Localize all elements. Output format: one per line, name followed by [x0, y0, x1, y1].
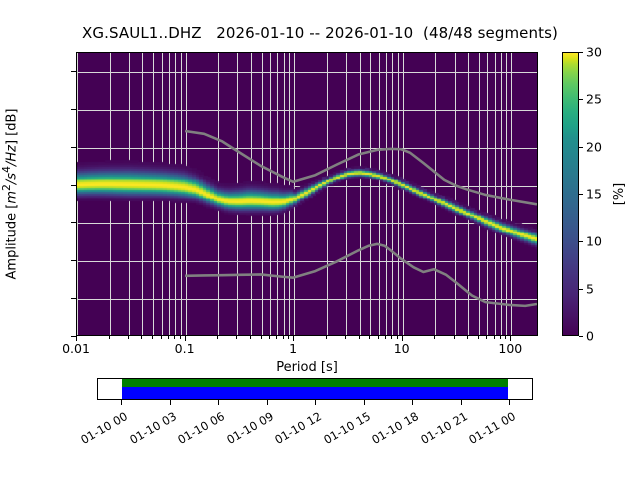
y-tick-mark	[71, 298, 76, 299]
high-noise-model-line	[185, 131, 537, 204]
x-tick-mark-minor	[217, 336, 218, 339]
x-tick-mark-minor	[261, 336, 262, 339]
x-tick-mark-minor	[168, 336, 169, 339]
timeline-tick-mark	[315, 400, 316, 405]
data-coverage-band	[122, 379, 508, 387]
colorbar-tick-label: 20	[586, 139, 602, 154]
x-tick-mark-minor	[152, 336, 153, 339]
colorbar-tick-label: 15	[586, 187, 602, 202]
y-tick-mark	[71, 147, 76, 148]
x-tick-mark-minor	[180, 336, 181, 339]
x-tick-label: 0.01	[62, 341, 90, 356]
x-axis-label: Period [s]	[76, 360, 538, 375]
timeline-strip[interactable]	[97, 378, 533, 400]
colorbar-tick-mark	[579, 241, 583, 242]
psd-segment-band	[122, 387, 508, 399]
colorbar	[562, 52, 579, 336]
x-tick-mark-minor	[385, 336, 386, 339]
x-tick-mark-minor	[288, 336, 289, 339]
ppsd-figure: XG.SAUL1..DHZ 2026-01-10 -- 2026-01-10 (…	[0, 0, 640, 480]
x-tick-mark-minor	[454, 336, 455, 339]
colorbar-tick-label: 0	[586, 329, 594, 344]
x-tick-mark-minor	[141, 336, 142, 339]
colorbar-tick-mark	[579, 99, 583, 100]
x-tick-mark-minor	[434, 336, 435, 339]
x-tick-mark-minor	[269, 336, 270, 339]
x-tick-mark-minor	[326, 336, 327, 339]
colorbar-tick-label: 10	[586, 234, 602, 249]
y-tick-mark	[71, 185, 76, 186]
x-tick-mark-minor	[505, 336, 506, 339]
x-tick-mark-minor	[500, 336, 501, 339]
colorbar-tick-mark	[579, 336, 583, 337]
y-tick-mark	[71, 222, 76, 223]
x-tick-label: 10	[394, 341, 410, 356]
x-tick-mark-minor	[250, 336, 251, 339]
x-tick-mark-minor	[128, 336, 129, 339]
x-tick-mark-minor	[174, 336, 175, 339]
timeline-tick-mark	[218, 400, 219, 405]
timeline-tick-mark	[461, 400, 462, 405]
x-tick-mark-minor	[236, 336, 237, 339]
colorbar-label: [%]	[612, 183, 627, 206]
colorbar-tick-label: 25	[586, 92, 602, 107]
colorbar-tick-mark	[579, 289, 583, 290]
timeline-tick-mark	[509, 400, 510, 405]
timeline-tick-mark	[121, 400, 122, 405]
colorbar-tick-label: 5	[586, 281, 594, 296]
x-tick-mark-minor	[283, 336, 284, 339]
x-tick-mark-minor	[391, 336, 392, 339]
y-tick-mark	[71, 109, 76, 110]
x-tick-label: 100	[498, 341, 522, 356]
x-tick-mark-minor	[161, 336, 162, 339]
x-tick-mark-minor	[467, 336, 468, 339]
x-tick-mark-minor	[109, 336, 110, 339]
colorbar-tick-mark	[579, 147, 583, 148]
timeline-tick-mark	[412, 400, 413, 405]
y-axis-label: Amplitude [m2/s4/Hz] [dB]	[0, 109, 19, 280]
ppsd-axes[interactable]	[76, 52, 538, 336]
y-tick-mark	[71, 71, 76, 72]
colorbar-tick-mark	[579, 52, 583, 53]
colorbar-tick-label: 30	[586, 45, 602, 60]
x-tick-mark-minor	[276, 336, 277, 339]
noise-model-layer	[77, 53, 537, 335]
x-tick-label: 1	[289, 341, 297, 356]
x-tick-mark-minor	[397, 336, 398, 339]
x-tick-label: 0.1	[175, 341, 195, 356]
timeline-tick-mark	[170, 400, 171, 405]
figure-title: XG.SAUL1..DHZ 2026-01-10 -- 2026-01-10 (…	[0, 24, 640, 42]
colorbar-tick-mark	[579, 194, 583, 195]
x-tick-mark-minor	[345, 336, 346, 339]
timeline-tick-mark	[267, 400, 268, 405]
x-tick-mark-minor	[369, 336, 370, 339]
timeline-tick-mark	[364, 400, 365, 405]
x-tick-mark-minor	[486, 336, 487, 339]
x-tick-mark-minor	[478, 336, 479, 339]
x-tick-mark-minor	[494, 336, 495, 339]
x-tick-mark-minor	[359, 336, 360, 339]
y-tick-mark	[71, 260, 76, 261]
x-tick-mark-minor	[378, 336, 379, 339]
low-noise-model-line	[185, 244, 537, 306]
